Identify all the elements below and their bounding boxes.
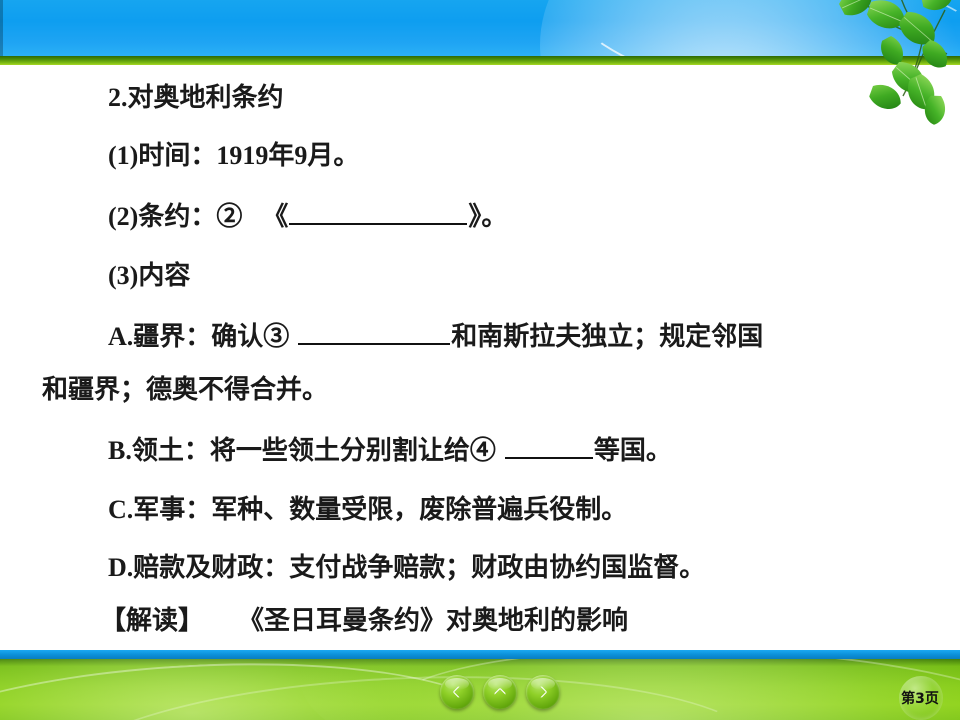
line-b-suffix: 等国。 — [594, 436, 672, 465]
slide-body: 2.对奥地利条约 (1)时间：1919年9月。 (2)条约：②《》。 (3)内容… — [0, 65, 960, 650]
line-treaty: (2)条约：②《》。 — [108, 203, 507, 230]
page-number-label: 第3页 — [901, 688, 939, 708]
line-content-label: (3)内容 — [108, 263, 190, 289]
line-treaty-prefix: (2)条约：② — [108, 202, 242, 231]
header-left-edge — [0, 0, 3, 56]
line-d-reparations: D.赔款及财政：支付战争赔款；财政由协约国监督。 — [108, 555, 705, 581]
footer-glow — [0, 659, 500, 720]
fill-in-blank-treaty[interactable] — [289, 203, 467, 225]
parent-slide-button[interactable] — [483, 675, 517, 709]
line-a-border: A.疆界：确认③和南斯拉夫独立；规定邻国 — [108, 323, 763, 350]
interpretation-label: 【解读】 — [100, 606, 204, 635]
slide-header-banner — [0, 0, 960, 65]
interpretation-text: 《圣日耳曼条约》对奥地利的影响 — [238, 606, 628, 635]
chevron-left-icon — [449, 684, 465, 700]
bracket-close: 》 — [468, 202, 481, 231]
next-slide-button[interactable] — [526, 675, 560, 709]
line-treaty-suffix: 。 — [481, 202, 507, 231]
slide-heading: 2.对奥地利条约 — [108, 85, 284, 111]
chevron-up-icon — [492, 684, 508, 700]
header-blue-band — [0, 0, 960, 56]
line-a-suffix: 和南斯拉夫独立；规定邻国 — [451, 322, 763, 351]
fill-in-blank-territory[interactable] — [505, 437, 593, 459]
previous-slide-button[interactable] — [440, 675, 474, 709]
fill-in-blank-border[interactable] — [298, 323, 450, 345]
page-number-badge: 第3页 — [893, 678, 947, 718]
presentation-slide: 2.对奥地利条约 (1)时间：1919年9月。 (2)条约：②《》。 (3)内容… — [0, 0, 960, 720]
line-time: (1)时间：1919年9月。 — [108, 143, 359, 169]
chevron-right-icon — [535, 684, 551, 700]
line-b-prefix: B.领土：将一些领土分别割让给④ — [108, 436, 496, 465]
footer-swoosh-arc — [57, 665, 767, 720]
footer-glow — [300, 659, 960, 720]
line-a-prefix: A.疆界：确认③ — [108, 322, 289, 351]
line-a-border-cont: 和疆界；德奥不得合并。 — [42, 377, 328, 403]
slide-navigation — [440, 672, 560, 712]
header-glow — [540, 0, 960, 56]
header-green-strip — [0, 56, 960, 65]
footer-blue-line — [0, 650, 960, 659]
line-b-territory: B.领土：将一些领土分别割让给④等国。 — [108, 437, 672, 464]
bracket-open: 《 — [262, 202, 288, 231]
footer-swoosh-arc — [0, 659, 508, 720]
line-c-military: C.军事：军种、数量受限，废除普遍兵役制。 — [108, 497, 627, 523]
line-interpretation: 【解读】《圣日耳曼条约》对奥地利的影响 — [100, 608, 628, 634]
